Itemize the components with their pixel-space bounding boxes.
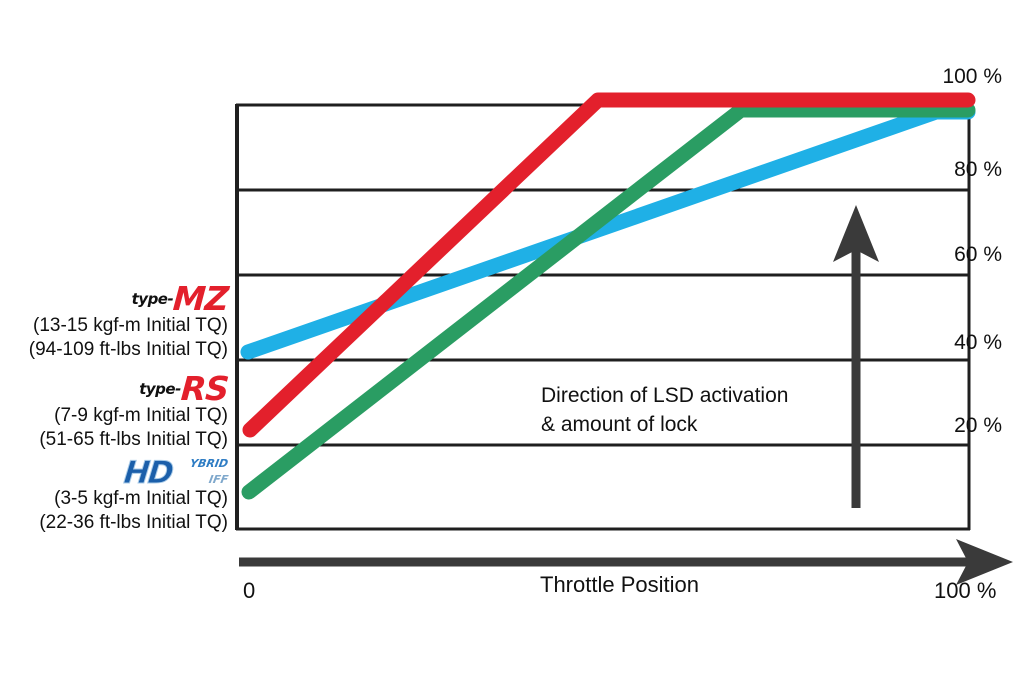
x-axis-label-max: 100 %: [934, 578, 996, 604]
legend-entry-type-mz: type-MZ (13-15 kgf-m Initial TQ) (94-109…: [0, 284, 232, 362]
legend-entry-hd-hybrid-diff: HD YBRID IFF (3-5 kgf-m Initial TQ) (22-…: [0, 457, 232, 535]
y-axis-label-20: 20 %: [954, 414, 1002, 438]
x-axis-title: Throttle Position: [540, 572, 699, 598]
type-mz-model: MZ: [172, 284, 229, 314]
legend-entry-type-rs: type-RS (7-9 kgf-m Initial TQ) (51-65 ft…: [0, 374, 232, 452]
lsd-activation-chart: 100 % 80 % 60 % 40 % 20 % type-MZ (13-15…: [0, 0, 1024, 680]
y-axis-label-100: 100 %: [942, 65, 1002, 89]
hd-hybrid-diff-wordmark: HD YBRID IFF: [0, 457, 232, 487]
type-rs-prefix: type-: [139, 380, 181, 398]
hd-torque-imperial: (22-36 ft-lbs Initial TQ): [0, 511, 232, 535]
type-rs-wordmark: type-RS: [0, 374, 232, 404]
lsd-direction-arrow-icon: [833, 205, 879, 508]
y-axis-label-80: 80 %: [954, 158, 1002, 182]
type-rs-model: RS: [180, 374, 229, 404]
y-axis-label-60: 60 %: [954, 243, 1002, 267]
hd-logo-icon: HD YBRID IFF: [124, 457, 228, 491]
annotation-line-1: Direction of LSD activation: [541, 381, 788, 410]
hd-logo-main-text: HD: [122, 458, 173, 489]
hd-logo-diff-text: IFF: [208, 474, 229, 485]
type-mz-torque-imperial: (94-109 ft-lbs Initial TQ): [0, 338, 232, 362]
lsd-direction-annotation: Direction of LSD activation & amount of …: [541, 381, 788, 439]
type-rs-torque-imperial: (51-65 ft-lbs Initial TQ): [0, 428, 232, 452]
x-axis-label-min: 0: [243, 578, 255, 604]
hd-logo-hybrid-text: YBRID: [189, 458, 229, 469]
type-mz-prefix: type-: [132, 290, 174, 308]
annotation-line-2: & amount of lock: [541, 410, 788, 439]
y-axis-label-40: 40 %: [954, 331, 1002, 355]
type-mz-wordmark: type-MZ: [0, 284, 232, 314]
